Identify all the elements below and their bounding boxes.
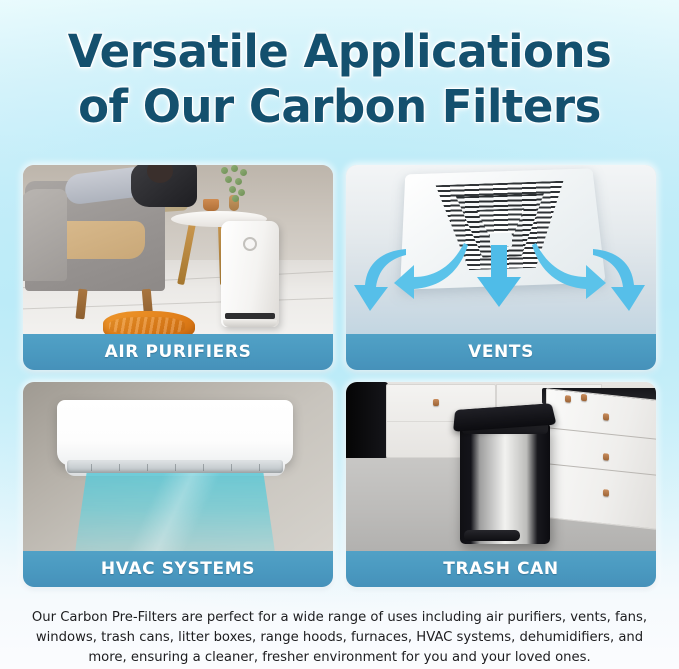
card-hvac-systems-label: HVAC SYSTEMS	[101, 559, 255, 579]
ac-louver-vent	[67, 460, 283, 473]
card-air-purifiers-caption: AIR PURIFIERS	[23, 334, 333, 370]
card-trash-can-image	[346, 382, 656, 551]
air-purifier-base	[223, 320, 277, 327]
card-hvac-systems-caption: HVAC SYSTEMS	[23, 551, 333, 587]
airflow-arrow-left-icon	[394, 241, 468, 301]
card-vents-label: VENTS	[468, 342, 534, 362]
trash-can-body	[460, 424, 550, 544]
application-cards-grid: AIR PURIFIERS	[23, 165, 656, 587]
kitchen-scene	[346, 382, 656, 551]
ceiling-vent-scene	[346, 165, 656, 334]
hanging-plant	[219, 165, 249, 201]
dark-appliance-panel	[346, 382, 388, 458]
air-purifier-device	[221, 221, 279, 327]
card-trash-can[interactable]: TRASH CAN	[346, 382, 656, 587]
sofa-armrest	[23, 189, 67, 281]
air-purifier-power-button	[243, 237, 257, 251]
card-air-purifiers-image	[23, 165, 333, 334]
airflow-arrow-center-icon	[477, 245, 521, 307]
drawer-knob	[603, 413, 609, 421]
drawer-knob	[581, 394, 587, 402]
coffee-cup	[203, 199, 219, 211]
cabinet-drawers-right	[546, 388, 656, 530]
living-room-scene	[23, 165, 333, 334]
hvac-scene	[23, 382, 333, 551]
card-vents-caption: VENTS	[346, 334, 656, 370]
footer-description-text: Our Carbon Pre-Filters are perfect for a…	[18, 608, 661, 668]
card-vents[interactable]: VENTS	[346, 165, 656, 370]
air-purifier-vent	[225, 313, 275, 319]
card-air-purifiers[interactable]: AIR PURIFIERS	[23, 165, 333, 370]
drawer-knob	[603, 489, 609, 497]
hvac-airflow-stream	[75, 470, 275, 551]
trash-can-foot-pedal	[464, 530, 520, 541]
drawer-knob	[603, 453, 609, 461]
card-trash-can-label: TRASH CAN	[443, 559, 559, 579]
card-hvac-systems[interactable]: HVAC SYSTEMS	[23, 382, 333, 587]
mini-split-ac-unit	[57, 400, 293, 466]
cabinet-knob	[433, 399, 439, 406]
sofa-throw-blanket	[59, 221, 145, 259]
card-hvac-systems-image	[23, 382, 333, 551]
page-title-line-1: Versatile Applications	[0, 24, 679, 79]
card-air-purifiers-label: AIR PURIFIERS	[105, 342, 252, 362]
card-trash-can-caption: TRASH CAN	[346, 551, 656, 587]
page-title-line-2: of Our Carbon Filters	[0, 79, 679, 134]
drawer-knob	[565, 395, 571, 403]
orange-floor-pillow	[103, 311, 195, 334]
page-title: Versatile Applications of Our Carbon Fil…	[0, 0, 679, 134]
card-vents-image	[346, 165, 656, 334]
airflow-arrow-far-right-icon	[585, 249, 645, 317]
footer-description: Our Carbon Pre-Filters are perfect for a…	[18, 608, 661, 668]
